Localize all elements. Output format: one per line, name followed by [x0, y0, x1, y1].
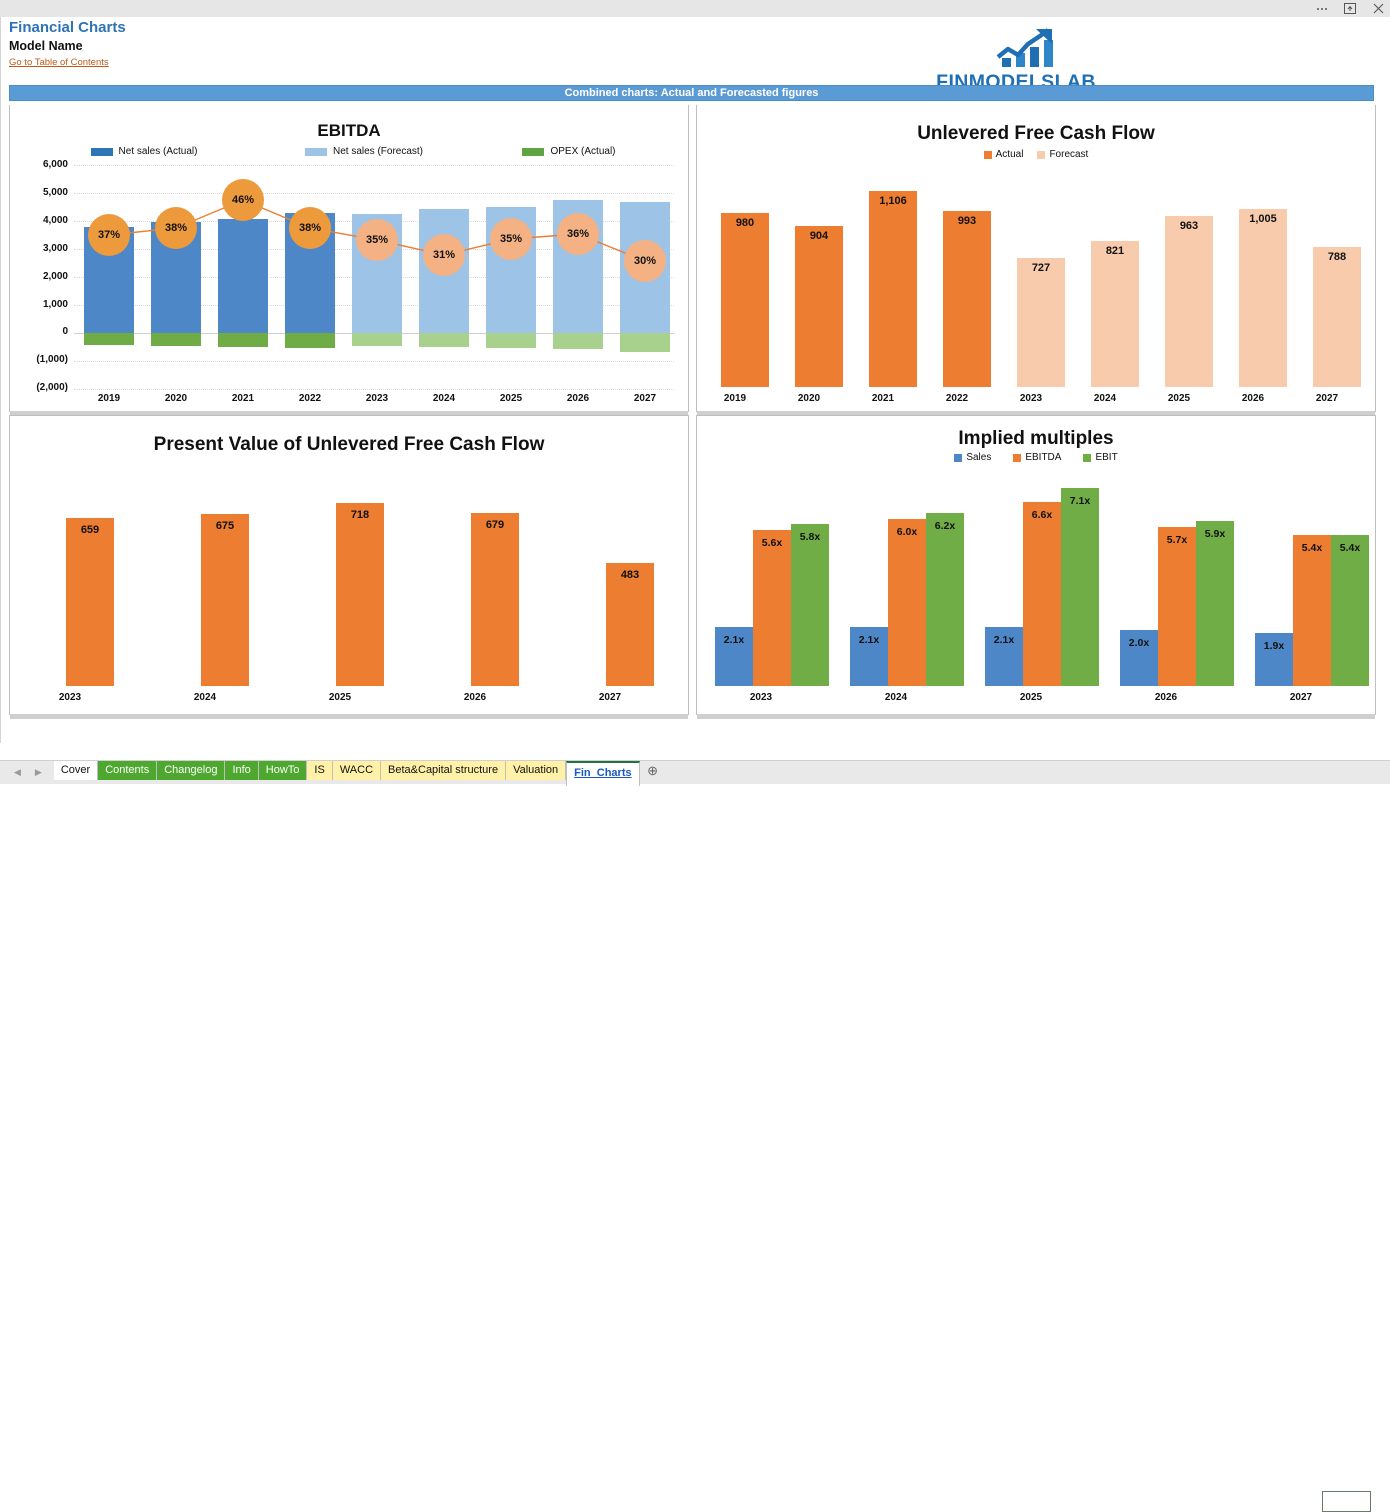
bar-value-label: 788: [1309, 251, 1365, 263]
legend-swatch-icon: [1013, 454, 1021, 462]
table-of-contents-link[interactable]: Go to Table of Contents: [9, 57, 109, 68]
bar-value-label: 675: [197, 520, 253, 532]
sheet-tab-valuation[interactable]: Valuation: [506, 761, 566, 780]
sheet-tab-howto[interactable]: HowTo: [259, 761, 308, 780]
y-axis-tick: 6,000: [10, 159, 68, 170]
y-axis-tick: 4,000: [10, 215, 68, 226]
bar-value-label: 483: [602, 569, 658, 581]
bar-ufcf-2024[interactable]: [1091, 241, 1139, 387]
bar-value-label: 980: [717, 217, 773, 229]
x-axis-label: 2021: [855, 393, 911, 404]
legend-item-forecast[interactable]: Forecast: [1037, 149, 1088, 160]
chart-panel-ebitda[interactable]: EBITDA Net sales (Actual) Net sales (For…: [9, 105, 689, 412]
plot-area-pv-unlevered-fcf: 659 675 718 679 483: [30, 482, 670, 686]
model-name-label: Model Name: [9, 39, 83, 53]
panel-shadow: [10, 714, 688, 719]
bar-value-label: 659: [62, 524, 118, 536]
x-axis-label: 2025: [312, 692, 368, 703]
sheet-nav-next-icon[interactable]: ▶: [35, 767, 42, 778]
add-sheet-icon[interactable]: ⊕: [640, 761, 666, 780]
bar-value-label: 6.6x: [1021, 509, 1063, 521]
bar-value-label: 7.1x: [1059, 495, 1101, 507]
plot-area-unlevered-fcf: 980 904 1,106 993 727 821 963 1,005 788: [711, 165, 1361, 387]
x-axis-label: 2019: [74, 393, 144, 404]
x-axis-label: 2027: [582, 692, 638, 703]
legend-label: Sales: [966, 452, 991, 463]
legend-label: EBITDA: [1025, 452, 1061, 463]
panel-shadow: [697, 714, 1375, 719]
chart-title-pv-unlevered-fcf: Present Value of Unlevered Free Cash Flo…: [10, 434, 688, 456]
x-axis-label: 2026: [447, 692, 503, 703]
bar-ebit-2023[interactable]: [791, 524, 829, 686]
bar-ufcf-2019[interactable]: [721, 213, 769, 387]
margin-marker-2020[interactable]: 38%: [155, 207, 197, 249]
selected-cell-outline[interactable]: [1322, 1491, 1371, 1512]
legend-item-opex-actual[interactable]: OPEX (Actual): [479, 146, 659, 157]
chart-title-unlevered-fcf: Unlevered Free Cash Flow: [697, 123, 1375, 145]
x-axis-label: 2026: [543, 393, 613, 404]
x-axis-label: 2024: [177, 692, 233, 703]
bar-value-label: 1,005: [1235, 213, 1291, 225]
bar-ebitda-2023[interactable]: [753, 530, 791, 686]
bar-ebit-2024[interactable]: [926, 513, 964, 686]
margin-marker-2022[interactable]: 38%: [289, 207, 331, 249]
legend-label: Net sales (Forecast): [333, 146, 423, 157]
bar-ebit-2025[interactable]: [1061, 488, 1099, 686]
ebitda-margin-line: [74, 165, 674, 389]
legend-item-net-sales-actual[interactable]: Net sales (Actual): [39, 146, 249, 157]
margin-marker-2019[interactable]: 37%: [88, 214, 130, 256]
y-axis-tick: 0: [10, 326, 68, 337]
chart-panel-pv-unlevered-fcf[interactable]: Present Value of Unlevered Free Cash Flo…: [9, 415, 689, 715]
x-axis-label: 2023: [1003, 393, 1059, 404]
x-axis-label: 2022: [275, 393, 345, 404]
y-axis-tick: (2,000): [10, 382, 68, 393]
legend-swatch-icon: [522, 148, 544, 156]
x-axis-label: 2024: [409, 393, 479, 404]
legend-swatch-icon: [305, 148, 327, 156]
x-axis-label: 2022: [929, 393, 985, 404]
bar-pv-2025[interactable]: [336, 503, 384, 686]
bar-ufcf-2027[interactable]: [1313, 247, 1361, 387]
sheet-nav-arrows: ◀ ▶: [0, 761, 54, 784]
close-window-icon[interactable]: [1370, 2, 1386, 16]
sheet-tab-info[interactable]: Info: [225, 761, 258, 780]
bar-value-label: 5.9x: [1194, 528, 1236, 540]
margin-marker-2027[interactable]: 30%: [624, 240, 666, 282]
bar-value-label: 5.4x: [1329, 542, 1371, 554]
legend-label: Forecast: [1049, 149, 1088, 160]
sheet-tab-fin-charts[interactable]: Fin_Charts: [566, 761, 639, 786]
legend-label: Actual: [996, 149, 1024, 160]
bar-pv-2023[interactable]: [66, 518, 114, 686]
chart-title-implied-multiples: Implied multiples: [697, 428, 1375, 450]
legend-swatch-icon: [954, 454, 962, 462]
sheet-tab-bar: ◀ ▶ Cover Contents Changelog Info HowTo …: [0, 760, 1390, 784]
x-axis-label: 2027: [1270, 692, 1332, 703]
sheet-tab-changelog[interactable]: Changelog: [157, 761, 225, 780]
bar-ufcf-2022[interactable]: [943, 211, 991, 387]
bar-ebit-2027[interactable]: [1331, 535, 1369, 686]
chart-legend-implied-multiples: Sales EBITDA EBIT: [697, 452, 1375, 463]
margin-marker-2021[interactable]: 46%: [222, 179, 264, 221]
legend-item-actual[interactable]: Actual: [984, 149, 1024, 160]
x-axis-label: 2027: [1299, 393, 1355, 404]
bar-value-label: 5.7x: [1156, 534, 1198, 546]
bar-value-label: 5.4x: [1291, 542, 1333, 554]
chart-panel-unlevered-fcf[interactable]: Unlevered Free Cash Flow Actual Forecast…: [696, 105, 1376, 412]
bar-value-label: 6.0x: [886, 526, 928, 538]
bar-value-label: 6.2x: [924, 520, 966, 532]
x-axis-label: 2020: [781, 393, 837, 404]
x-axis-label: 2025: [1151, 393, 1207, 404]
bar-value-label: 1.9x: [1253, 640, 1295, 652]
x-axis-label: 2019: [707, 393, 763, 404]
legend-swatch-icon: [984, 151, 992, 159]
legend-item-ebitda[interactable]: EBITDA: [1013, 452, 1061, 463]
sheet-tab-is[interactable]: IS: [307, 761, 332, 780]
window-title-bar: [0, 0, 1390, 18]
bar-value-label: 904: [791, 230, 847, 242]
bar-ebitda-2026[interactable]: [1158, 527, 1196, 686]
bar-value-label: 727: [1013, 262, 1069, 274]
bar-ufcf-2026[interactable]: [1239, 209, 1287, 387]
bar-value-label: 5.6x: [751, 537, 793, 549]
sheet-tabs: Cover Contents Changelog Info HowTo IS W…: [54, 761, 640, 784]
margin-marker-2025[interactable]: 35%: [490, 218, 532, 260]
bar-value-label: 679: [467, 519, 523, 531]
x-axis-label: 2024: [1077, 393, 1133, 404]
legend-label: OPEX (Actual): [550, 146, 615, 157]
x-axis-label: 2020: [141, 393, 211, 404]
chart-panel-implied-multiples[interactable]: Implied multiples Sales EBITDA EBIT 2.1x…: [696, 415, 1376, 715]
plot-area-ebitda: 37% 38% 46% 38% 35% 31% 35% 36% 30%: [74, 165, 674, 389]
x-axis-label: 2023: [730, 692, 792, 703]
bar-pv-2027[interactable]: [606, 563, 654, 686]
bar-ufcf-2020[interactable]: [795, 226, 843, 387]
margin-marker-2023[interactable]: 35%: [356, 219, 398, 261]
bar-value-label: 993: [939, 215, 995, 227]
y-axis-tick: 5,000: [10, 187, 68, 198]
x-axis-label: 2026: [1135, 692, 1197, 703]
y-axis-tick: 1,000: [10, 299, 68, 310]
bar-value-label: 2.1x: [848, 634, 890, 646]
sheet-nav-prev-icon[interactable]: ◀: [14, 767, 21, 778]
sheet-tab-cover[interactable]: Cover: [54, 761, 98, 780]
bar-ebitda-2024[interactable]: [888, 519, 926, 686]
bar-pv-2024[interactable]: [201, 514, 249, 686]
legend-swatch-icon: [91, 148, 113, 156]
y-axis-tick: 3,000: [10, 243, 68, 254]
bar-ufcf-2025[interactable]: [1165, 216, 1213, 387]
legend-swatch-icon: [1037, 151, 1045, 159]
legend-item-net-sales-forecast[interactable]: Net sales (Forecast): [249, 146, 479, 157]
bar-ebitda-2027[interactable]: [1293, 535, 1331, 686]
gridline: [74, 389, 674, 390]
sheet-tab-wacc[interactable]: WACC: [333, 761, 381, 780]
bar-ufcf-2021[interactable]: [869, 191, 917, 387]
bar-ebit-2026[interactable]: [1196, 521, 1234, 686]
bar-value-label: 718: [332, 509, 388, 521]
growth-chart-arrow-icon: [994, 27, 1074, 73]
chart-legend-unlevered-fcf: Actual Forecast: [697, 149, 1375, 160]
margin-marker-2024[interactable]: 31%: [423, 234, 465, 276]
bar-value-label: 963: [1161, 220, 1217, 232]
bar-value-label: 2.0x: [1118, 637, 1160, 649]
x-axis-label: 2025: [476, 393, 546, 404]
bar-ebitda-2025[interactable]: [1023, 502, 1061, 686]
legend-label: Net sales (Actual): [119, 146, 198, 157]
sheet-tab-contents[interactable]: Contents: [98, 761, 157, 780]
bar-value-label: 5.8x: [789, 531, 831, 543]
x-axis-label: 2027: [610, 393, 680, 404]
legend-swatch-icon: [1083, 454, 1091, 462]
window-controls: [1314, 0, 1386, 17]
x-axis-label: 2023: [342, 393, 412, 404]
bar-value-label: 1,106: [865, 195, 921, 207]
legend-item-ebit[interactable]: EBIT: [1083, 452, 1117, 463]
bar-value-label: 2.1x: [713, 634, 755, 646]
worksheet-surface: Financial Charts Model Name Go to Table …: [0, 17, 1390, 743]
bar-ufcf-2023[interactable]: [1017, 258, 1065, 387]
x-axis-label: 2025: [1000, 692, 1062, 703]
more-options-icon[interactable]: [1314, 2, 1330, 16]
legend-item-sales[interactable]: Sales: [954, 452, 991, 463]
chart-title-ebitda: EBITDA: [10, 121, 688, 141]
y-axis-tick: (1,000): [10, 354, 68, 365]
bar-pv-2026[interactable]: [471, 513, 519, 686]
legend-label: EBIT: [1095, 452, 1117, 463]
page-title: Financial Charts: [9, 19, 126, 36]
sheet-tab-beta-capital-structure[interactable]: Beta&Capital structure: [381, 761, 506, 780]
x-axis-label: 2023: [42, 692, 98, 703]
margin-marker-2026[interactable]: 36%: [557, 213, 599, 255]
section-banner: Combined charts: Actual and Forecasted f…: [9, 85, 1374, 101]
y-axis-tick: 2,000: [10, 271, 68, 282]
chart-legend-ebitda: Net sales (Actual) Net sales (Forecast) …: [10, 146, 688, 157]
x-axis-label: 2024: [865, 692, 927, 703]
restore-window-icon[interactable]: [1342, 2, 1358, 16]
x-axis-label: 2026: [1225, 393, 1281, 404]
bar-value-label: 2.1x: [983, 634, 1025, 646]
x-axis-label: 2021: [208, 393, 278, 404]
bar-value-label: 821: [1087, 245, 1143, 257]
plot-area-implied-multiples: 2.1x 5.6x 5.8x 2.1x 6.0x 6.2x 2.1x 6.6x …: [711, 474, 1361, 686]
